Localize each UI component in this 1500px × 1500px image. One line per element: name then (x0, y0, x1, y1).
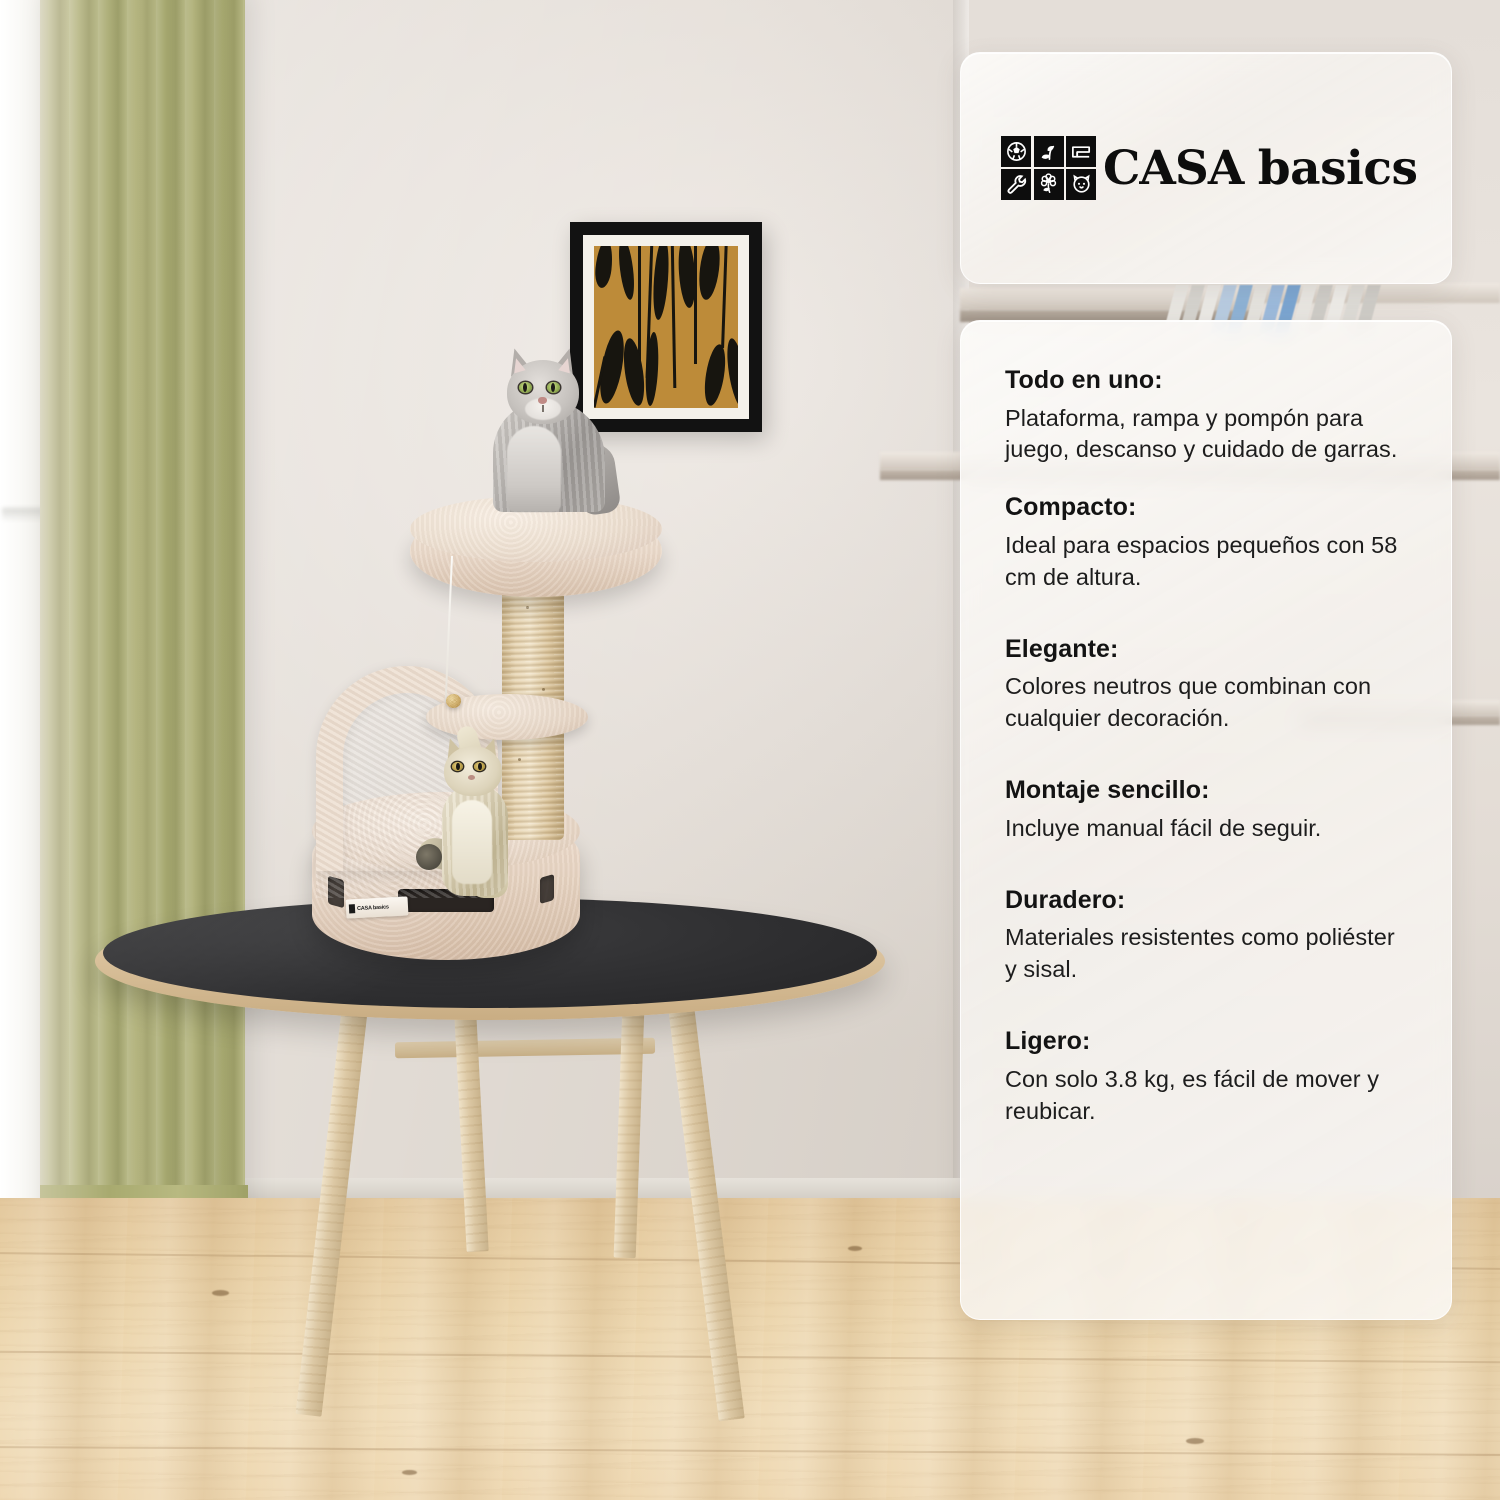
feature-compacto: Compacto: Ideal para espacios pequeños c… (1005, 492, 1409, 593)
feature-body: Materiales resistentes como poliéster y … (1005, 922, 1409, 986)
feature-body: Plataforma, rampa y pompón para juego, d… (1005, 403, 1409, 467)
table-leg (614, 990, 645, 1259)
kitten-chest (452, 800, 492, 884)
feature-body: Colores neutros que combinan con cualqui… (1005, 671, 1409, 735)
tag-logo-mark (349, 904, 355, 913)
grey-cat (485, 352, 615, 512)
feature-title: Todo en uno: (1005, 365, 1409, 396)
flower-icon (1034, 169, 1064, 200)
pompom-toy (446, 694, 461, 708)
tabby-kitten (418, 718, 548, 908)
tag-brand-text: CASA basics (357, 904, 389, 912)
feature-body: Incluye manual fácil de seguir. (1005, 813, 1409, 845)
kitten-nose (468, 775, 475, 780)
brand-logo-panel: CASA basics (960, 52, 1452, 284)
kitten-tail-tip (416, 844, 442, 870)
soccer-ball-icon (1001, 136, 1031, 167)
cat-nose (538, 397, 547, 404)
feature-title: Elegante: (1005, 634, 1409, 665)
kitten-pupil-right (478, 763, 482, 770)
cat-face-icon (1066, 169, 1096, 200)
feature-title: Compacto: (1005, 492, 1409, 523)
product-infographic: CASA basics (0, 0, 1500, 1500)
table-leg (296, 997, 369, 1417)
feature-todo-en-uno: Todo en uno: Plataforma, rampa y pompón … (1005, 365, 1409, 466)
feature-elegante: Elegante: Colores neutros que combinan c… (1005, 634, 1409, 735)
casa-basics-logo-mark (1001, 136, 1096, 201)
brand-wordmark: CASA basics (1103, 145, 1417, 192)
wrench-icon (1001, 169, 1031, 200)
brand-logo: CASA basics (1001, 136, 1417, 201)
feature-body: Con solo 3.8 kg, es fácil de mover y reu… (1005, 1064, 1409, 1128)
feature-title: Duradero: (1005, 885, 1409, 916)
table-leg (667, 996, 745, 1421)
table-leg (453, 989, 489, 1252)
brand-name-bold: CASA (1103, 141, 1243, 196)
feature-montaje-sencillo: Montaje sencillo: Incluye manual fácil d… (1005, 775, 1409, 844)
kitten-pupil-left (456, 763, 460, 770)
feature-title: Montaje sencillo: (1005, 775, 1409, 806)
feature-body: Ideal para espacios pequeños con 58 cm d… (1005, 530, 1409, 594)
art-canvas (594, 246, 738, 408)
product-brand-tag: CASA basics (346, 896, 409, 918)
table-apron (395, 1038, 655, 1059)
sofa-icon (1066, 136, 1096, 167)
feature-duradero: Duradero: Materiales resistentes como po… (1005, 885, 1409, 986)
brand-name-light: basics (1258, 141, 1418, 196)
feature-title: Ligero: (1005, 1026, 1409, 1057)
cat-mouth (542, 405, 544, 412)
base-cutout-hole (328, 876, 344, 909)
cat-chest (507, 426, 561, 512)
kitten-head (444, 746, 502, 796)
cat-pupil-left (523, 383, 527, 392)
plant-sprout-icon (1034, 136, 1064, 167)
feature-ligero: Ligero: Con solo 3.8 kg, es fácil de mov… (1005, 1026, 1409, 1127)
features-panel: Todo en uno: Plataforma, rampa y pompón … (960, 320, 1452, 1320)
cat-pupil-right (551, 383, 555, 392)
